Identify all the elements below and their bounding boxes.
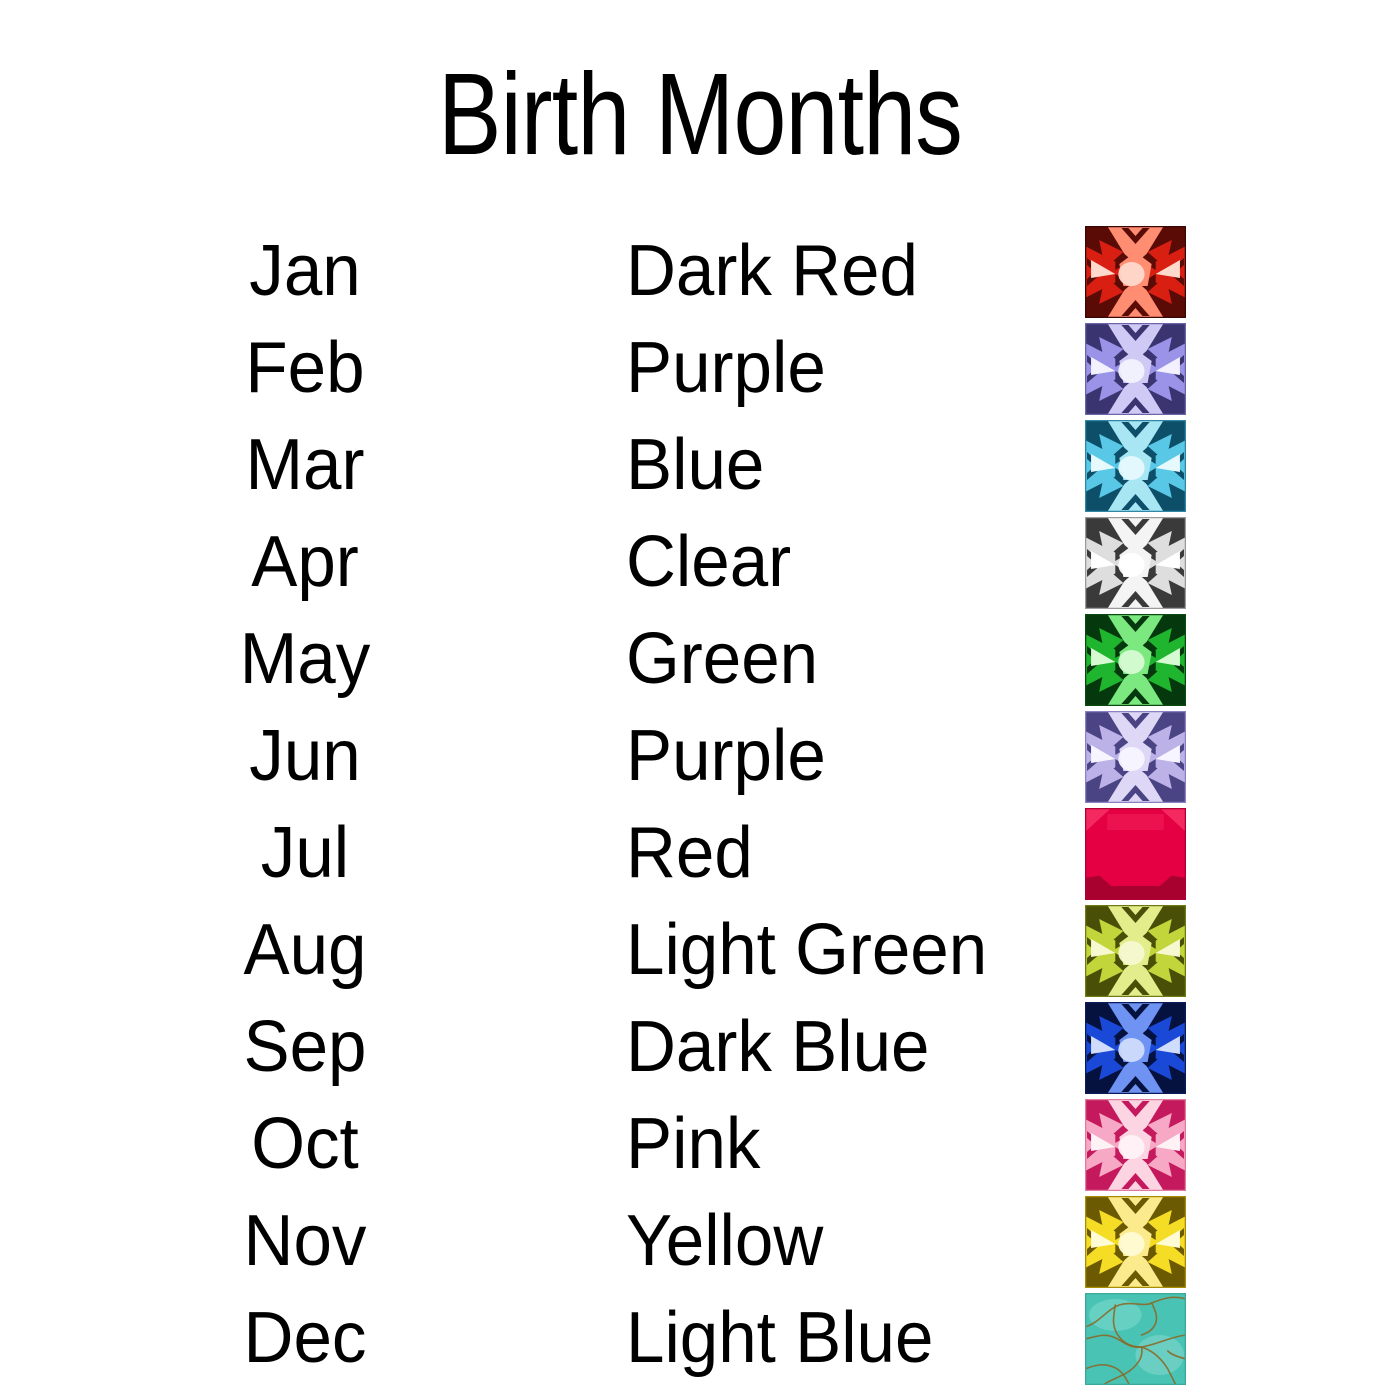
birthstone-gem [1085,226,1186,318]
page-title: Birth Months [126,56,1274,172]
table-row: JunPurple [0,711,1400,808]
birthstone-gem [1085,614,1186,706]
month-label: Mar [214,426,396,504]
month-label: Nov [214,1202,396,1280]
gem-faceted [1085,1196,1186,1288]
color-name-label: Pink [626,1105,760,1183]
month-label: Jan [214,232,396,310]
table-row: MarBlue [0,420,1400,517]
birthstone-gem [1085,1196,1186,1288]
color-name-label: Light Green [626,911,987,989]
color-name-label: Purple [626,717,826,795]
month-label: Aug [214,911,396,989]
gem-faceted [1085,226,1186,318]
birthstone-gem [1085,711,1186,803]
birthstone-gem [1085,1002,1186,1094]
color-name-label: Blue [626,426,764,504]
color-name-label: Yellow [626,1202,823,1280]
table-row: AprClear [0,517,1400,614]
color-name-label: Green [626,620,818,698]
month-label: Oct [214,1105,396,1183]
birthstone-table: JanDark RedFebPurpleMarBlueAprClearMayGr… [0,226,1400,1390]
birthstone-gem [1085,905,1186,997]
gem-faceted [1085,323,1186,415]
gem-turquoise [1085,1293,1186,1385]
birthstone-gem [1085,323,1186,415]
gem-faceted [1085,420,1186,512]
birthstone-gem [1085,517,1186,609]
color-name-label: Clear [626,523,791,601]
color-name-label: Red [626,814,753,892]
month-label: Feb [214,329,396,407]
color-name-label: Dark Blue [626,1008,929,1086]
month-label: Jul [214,814,396,892]
month-label: Sep [214,1008,396,1086]
table-row: DecLight Blue [0,1293,1400,1390]
birthstone-gem [1085,1099,1186,1191]
table-row: AugLight Green [0,905,1400,1002]
color-name-label: Light Blue [626,1299,933,1377]
birthstone-gem [1085,808,1186,900]
color-name-label: Dark Red [626,232,918,310]
table-row: SepDark Blue [0,1002,1400,1099]
table-row: OctPink [0,1099,1400,1196]
gem-smooth [1085,808,1186,900]
gem-faceted [1085,517,1186,609]
table-row: MayGreen [0,614,1400,711]
month-label: Dec [214,1299,396,1377]
gem-faceted [1085,711,1186,803]
month-label: May [214,620,396,698]
month-label: Apr [214,523,396,601]
gem-faceted [1085,905,1186,997]
table-row: FebPurple [0,323,1400,420]
table-row: JanDark Red [0,226,1400,323]
color-name-label: Purple [626,329,826,407]
table-row: NovYellow [0,1196,1400,1293]
birthstone-gem [1085,420,1186,512]
birthstone-gem [1085,1293,1186,1385]
gem-faceted [1085,1099,1186,1191]
table-row: JulRed [0,808,1400,905]
gem-faceted [1085,1002,1186,1094]
month-label: Jun [214,717,396,795]
gem-faceted [1085,614,1186,706]
